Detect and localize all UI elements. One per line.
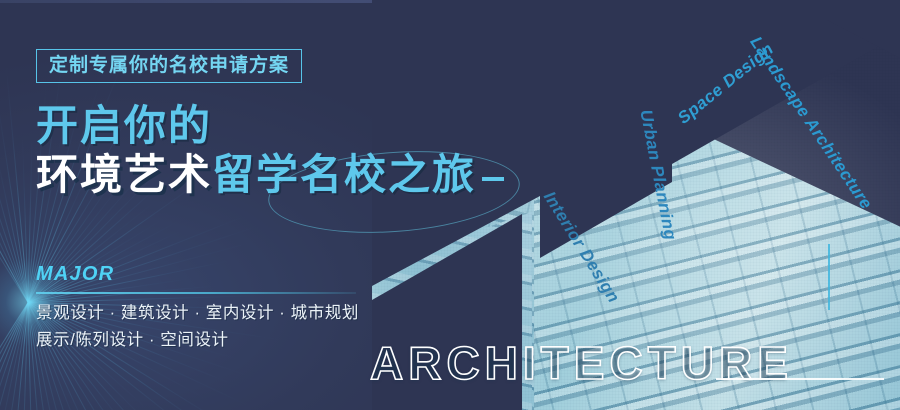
major-list-line-2: 展示/陈列设计 · 空间设计	[36, 327, 359, 354]
major-list-line-1: 景观设计 · 建筑设计 · 室内设计 · 城市规划	[36, 300, 359, 327]
major-divider	[36, 292, 356, 294]
architecture-trailing-rule	[716, 378, 884, 380]
major-list: 景观设计 · 建筑设计 · 室内设计 · 城市规划 展示/陈列设计 · 空间设计	[36, 300, 359, 354]
headline-block: 开启你的 环境艺术留学名校之旅	[36, 105, 504, 197]
headline-journey-term: 留学名校之旅	[212, 151, 476, 198]
tagline-box: 定制专属你的名校申请方案	[36, 49, 302, 83]
vertical-accent-line	[828, 244, 830, 310]
architecture-study-abroad-banner: Interior Design Urban Planning Space Des…	[0, 0, 900, 410]
architecture-outline-word: ARCHITECTURE	[370, 336, 793, 390]
headline-line-2: 环境艺术留学名校之旅	[36, 154, 504, 197]
headline-dash-accent	[482, 177, 504, 181]
headline-major-term: 环境艺术	[36, 151, 212, 198]
headline-line-1: 开启你的	[36, 105, 504, 148]
major-heading: MAJOR	[36, 263, 114, 286]
